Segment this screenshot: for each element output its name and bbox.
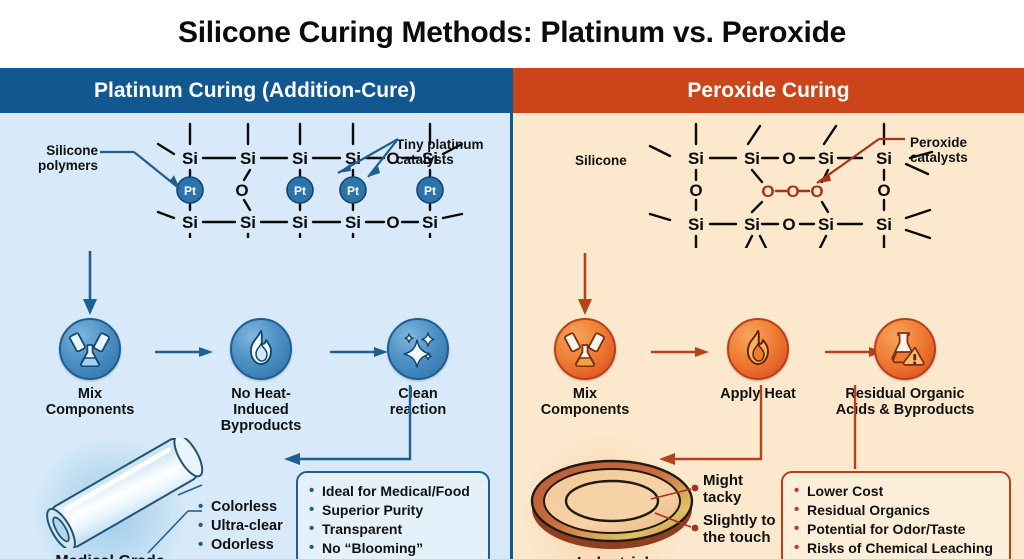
svg-text:O: O <box>782 215 795 234</box>
list-item: No “Blooming” <box>309 539 478 558</box>
tube-properties-list: Colorless Ultra-clear Odorless <box>198 498 283 555</box>
callout-silicone-polymers: Silicone polymers <box>18 143 98 173</box>
list-item: Ideal for Medical/Food <box>309 482 478 501</box>
callout-silicone: Silicone <box>575 153 627 168</box>
page-title: Silicone Curing Methods: Platinum vs. Pe… <box>0 16 1024 50</box>
panel-header-peroxide: Peroxide Curing <box>513 68 1024 113</box>
svg-text:Si: Si <box>422 213 438 232</box>
svg-text:Si: Si <box>818 215 834 234</box>
list-item: Superior Purity <box>309 501 478 520</box>
svg-text:Pt: Pt <box>294 184 306 198</box>
step-label: Mix Components <box>530 386 640 418</box>
svg-text:O: O <box>386 213 399 232</box>
list-item: Transparent <box>309 520 478 539</box>
callout-peroxide-catalysts: Peroxide catalysts <box>910 135 968 165</box>
list-item: Potential for Odor/Taste <box>794 520 999 539</box>
list-item: Risks of Chemical Leaching <box>794 539 999 558</box>
svg-text:O: O <box>689 181 702 200</box>
arrow-molecule-to-mix-peroxide <box>565 253 605 323</box>
gasket-property-1: Might tacky <box>703 473 743 507</box>
list-item: Ultra-clear <box>198 517 283 536</box>
panel-body-platinum: SiSiSi SiOSi O SiSiSi SiOSi PtPt <box>0 113 510 559</box>
list-item: Lower Cost <box>794 482 999 501</box>
step-mix-components-peroxide[interactable]: Mix Components <box>530 318 640 418</box>
panel-peroxide-curing: Peroxide Curing <box>513 68 1024 559</box>
svg-text:Si: Si <box>744 215 760 234</box>
svg-text:O: O <box>786 182 799 201</box>
step-mix-components-platinum[interactable]: Mix Components <box>35 318 145 418</box>
platinum-molecule-diagram: SiSiSi SiOSi O SiSiSi SiOSi PtPt <box>150 118 480 238</box>
svg-text:Si: Si <box>876 215 892 234</box>
product-caption-gasket: Industrial Silicone Gasket <box>513 555 713 559</box>
svg-text:O: O <box>235 181 248 200</box>
mix-flask-icon <box>59 318 121 380</box>
svg-text:Si: Si <box>744 149 760 168</box>
svg-text:Si: Si <box>292 213 308 232</box>
panel-header-platinum: Platinum Curing (Addition-Cure) <box>0 68 510 113</box>
drawbacks-box-peroxide: Lower Cost Residual Organics Potential f… <box>781 471 1011 559</box>
list-item: Odorless <box>198 536 283 555</box>
flame-icon <box>727 318 789 380</box>
gasket-property-2: Slightly to the touch <box>703 513 776 547</box>
arrow-step3-to-benefits <box>260 381 420 476</box>
flame-icon <box>230 318 292 380</box>
infographic-root: Silicone Curing Methods: Platinum vs. Pe… <box>0 0 1024 559</box>
svg-text:Si: Si <box>182 213 198 232</box>
svg-text:O: O <box>782 149 795 168</box>
arrow-platinum-catalysts <box>320 133 410 203</box>
benefits-box-platinum: Ideal for Medical/Food Superior Purity T… <box>296 471 490 559</box>
arrow-silicone-polymers <box>98 141 198 201</box>
svg-text:Si: Si <box>240 149 256 168</box>
arrow-molecule-to-mix <box>70 251 110 321</box>
flask-warning-icon <box>874 318 936 380</box>
svg-text:Si: Si <box>688 149 704 168</box>
list-item: Residual Organics <box>794 501 999 520</box>
svg-text:Si: Si <box>240 213 256 232</box>
list-item: Colorless <box>198 498 283 517</box>
arrow-step1-to-step2-peroxide <box>651 345 711 359</box>
gasket-leader-lines <box>633 465 713 545</box>
svg-text:Si: Si <box>345 213 361 232</box>
step-label: Mix Components <box>35 386 145 418</box>
svg-text:Pt: Pt <box>424 184 436 198</box>
panel-platinum-curing: Platinum Curing (Addition-Cure) <box>0 68 513 559</box>
mix-flask-icon <box>554 318 616 380</box>
svg-text:O: O <box>761 182 774 201</box>
sparkle-icon <box>387 318 449 380</box>
svg-text:Si: Si <box>688 215 704 234</box>
svg-text:Si: Si <box>292 149 308 168</box>
arrow-peroxide-catalysts <box>801 131 911 201</box>
panel-body-peroxide: SiSiO SiSi OO SiSiO SiSi OOO <box>513 113 1024 559</box>
arrow-step3-to-drawbacks <box>843 383 923 475</box>
